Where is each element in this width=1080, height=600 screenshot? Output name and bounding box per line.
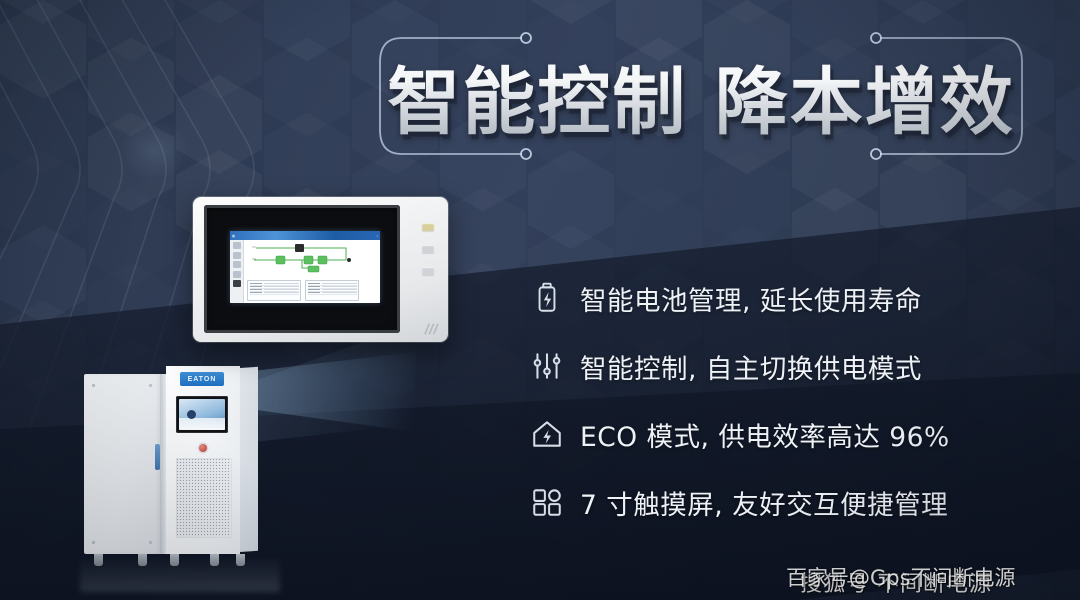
poster-canvas: 智能控制 降本增效 智能电池管理, 延长使用寿命 (0, 0, 1080, 600)
watermark-primary: 百家号@Gps不间断电源 (786, 562, 1016, 592)
vignette-overlay (0, 0, 1080, 600)
